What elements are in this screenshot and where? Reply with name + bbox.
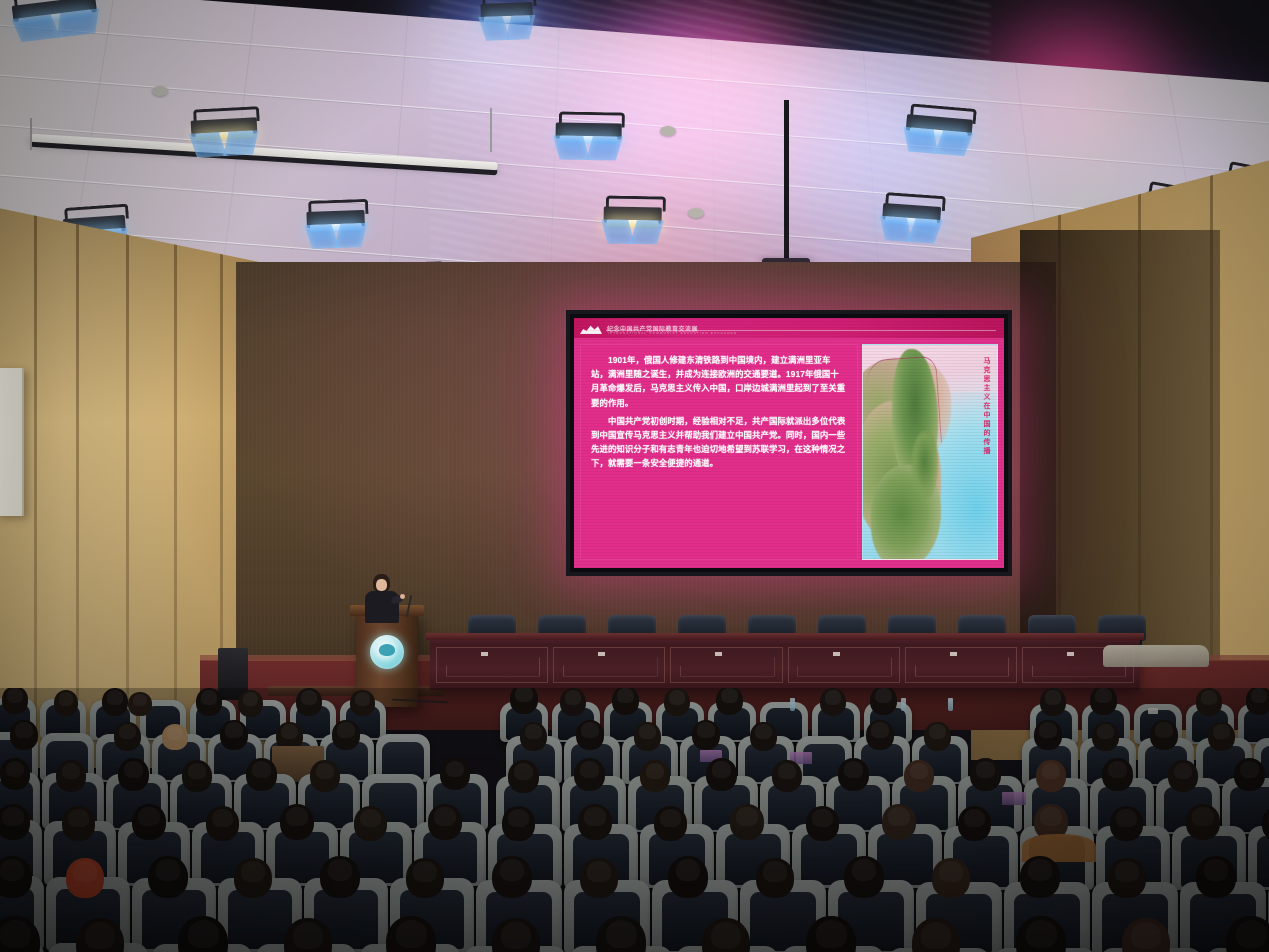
audience-head	[220, 720, 248, 750]
audience-head	[428, 804, 462, 840]
audience-head	[350, 690, 375, 716]
audience-head	[2, 688, 28, 714]
stage-light	[556, 111, 622, 112]
audience-head	[668, 856, 708, 898]
audience-head	[520, 722, 547, 751]
table-panel	[553, 647, 665, 683]
audience-head	[114, 722, 141, 751]
audience-head	[246, 758, 277, 791]
audience-head	[932, 858, 970, 898]
map-border-line	[865, 355, 942, 446]
audience-head	[1102, 758, 1133, 791]
audience-head	[1020, 856, 1060, 898]
audience-head	[148, 856, 188, 898]
audience-head	[354, 806, 387, 841]
audience-head	[440, 758, 470, 790]
audience-head	[1246, 688, 1269, 715]
seated-audience	[0, 688, 1269, 952]
audience-head	[612, 688, 639, 715]
head-table	[430, 638, 1140, 690]
audience-head	[162, 724, 188, 750]
audience-head	[310, 760, 340, 792]
audience-head	[970, 758, 1001, 791]
slide-paragraph-1: 1901年，俄国人修建东清铁路到中国境内，建立满洲里亚车站，满洲里随之诞生，并成…	[591, 353, 847, 410]
smoke-detector	[688, 208, 704, 218]
audience-head	[882, 804, 916, 840]
audience-head	[1092, 722, 1119, 751]
ceiling-projector	[762, 100, 810, 260]
audience-head	[576, 720, 604, 750]
audience-head	[118, 758, 149, 791]
audience-head	[634, 722, 661, 751]
auditorium-scene: 纪念中国共产党国际教育交流展 INTERNATIONAL COMMUNIST E…	[0, 0, 1269, 952]
audience-head	[870, 688, 897, 715]
slide-text-panel: 1901年，俄国人修建东清铁路到中国境内，建立满洲里亚车站，满洲里随之诞生，并成…	[580, 344, 858, 560]
table-panel	[788, 647, 900, 683]
audience-head	[664, 688, 690, 716]
university-emblem-icon	[370, 635, 404, 669]
audience-head	[838, 758, 869, 791]
mountain-logo-icon	[580, 322, 602, 334]
rail-hanger	[490, 108, 492, 152]
slide-header-subtitle: INTERNATIONAL COMMUNIST EDUCATION EXCHAN…	[608, 331, 737, 335]
audience-head	[0, 856, 32, 898]
audience-head	[866, 720, 894, 750]
table-panel	[670, 647, 782, 683]
audience-head	[1234, 758, 1265, 791]
audience-head	[332, 720, 360, 750]
smoke-detector	[660, 126, 676, 136]
audience-head	[0, 758, 30, 790]
smoke-detector	[152, 86, 168, 96]
audience-head	[806, 806, 839, 841]
audience-head	[844, 856, 884, 898]
audience-head	[578, 804, 612, 840]
audience-head	[102, 688, 128, 716]
audience-head	[904, 760, 934, 792]
led-screen[interactable]: 纪念中国共产党国际教育交流展 INTERNATIONAL COMMUNIST E…	[566, 310, 1012, 576]
audience-head	[1186, 804, 1220, 840]
audience-head	[692, 720, 720, 750]
slide-paragraph-2: 中国共产党初创时期，经验相对不足，共产国际就派出多位代表到中国宣传马克思主义并帮…	[591, 414, 847, 471]
audience-head	[510, 688, 538, 714]
slide-body: 1901年，俄国人修建东清铁路到中国境内，建立满洲里亚车站，满洲里随之诞生，并成…	[574, 338, 1004, 568]
presentation-slide: 纪念中国共产党国际教育交流展 INTERNATIONAL COMMUNIST E…	[574, 318, 1004, 568]
audience-head	[1196, 856, 1236, 898]
map-vertical-caption: 马克思主义在中国的传播	[980, 357, 992, 456]
audience-head	[1150, 720, 1178, 750]
audience-head	[1090, 688, 1117, 715]
slide-header-bar: 纪念中国共产党国际教育交流展 INTERNATIONAL COMMUNIST E…	[574, 318, 1004, 338]
audience-head	[1110, 806, 1143, 841]
audience-head	[654, 806, 687, 841]
audience-head	[820, 688, 846, 716]
audience-head	[716, 688, 743, 715]
audience-head	[640, 760, 670, 792]
paper-sheet	[1148, 708, 1158, 714]
audience-head	[502, 806, 535, 841]
audience-head	[580, 858, 618, 898]
stage-light	[604, 195, 662, 196]
audience-head	[54, 690, 78, 716]
audience-head	[0, 804, 30, 840]
audience-head	[772, 760, 802, 792]
audience-head	[1040, 688, 1066, 716]
audience-head	[924, 722, 951, 751]
audience-head	[574, 758, 605, 791]
audience-head	[66, 858, 104, 898]
water-bottle	[901, 698, 906, 711]
audience-head	[132, 804, 166, 840]
audience-head	[560, 688, 586, 716]
audience-head	[756, 858, 794, 898]
audience-head	[320, 856, 360, 898]
laptop	[1002, 792, 1026, 805]
audience-head	[1208, 722, 1235, 751]
audience-head	[406, 858, 444, 898]
audience-head	[280, 804, 314, 840]
audience-head	[1196, 688, 1222, 716]
water-bottle	[790, 698, 795, 711]
audience-head	[234, 858, 272, 898]
audience-head	[10, 720, 38, 750]
covered-equipment	[1103, 645, 1209, 667]
audience-head	[1168, 760, 1198, 792]
audience-head	[492, 856, 532, 898]
wall-acoustic-panel	[0, 368, 24, 516]
audience-head	[196, 688, 222, 716]
audience-head	[238, 690, 263, 717]
audience-head	[62, 806, 95, 841]
audience-head	[1108, 858, 1146, 898]
audience-head	[958, 806, 991, 841]
audience-head	[750, 722, 777, 751]
table-panel	[436, 647, 548, 683]
audience-head	[1034, 720, 1062, 750]
audience-head	[1036, 760, 1066, 792]
water-bottle	[948, 698, 953, 711]
audience-head	[182, 760, 212, 792]
rail-hanger	[30, 118, 32, 150]
audience-head	[56, 760, 86, 792]
audience-head	[508, 760, 539, 793]
audience-head	[128, 692, 152, 716]
audience-head	[730, 804, 764, 840]
table-panel	[905, 647, 1017, 683]
audience-head	[296, 688, 322, 716]
presenter	[364, 574, 400, 622]
audience-head	[706, 758, 737, 791]
slide-terrain-map: 马克思主义在中国的传播	[862, 344, 998, 560]
audience-head	[206, 806, 239, 841]
